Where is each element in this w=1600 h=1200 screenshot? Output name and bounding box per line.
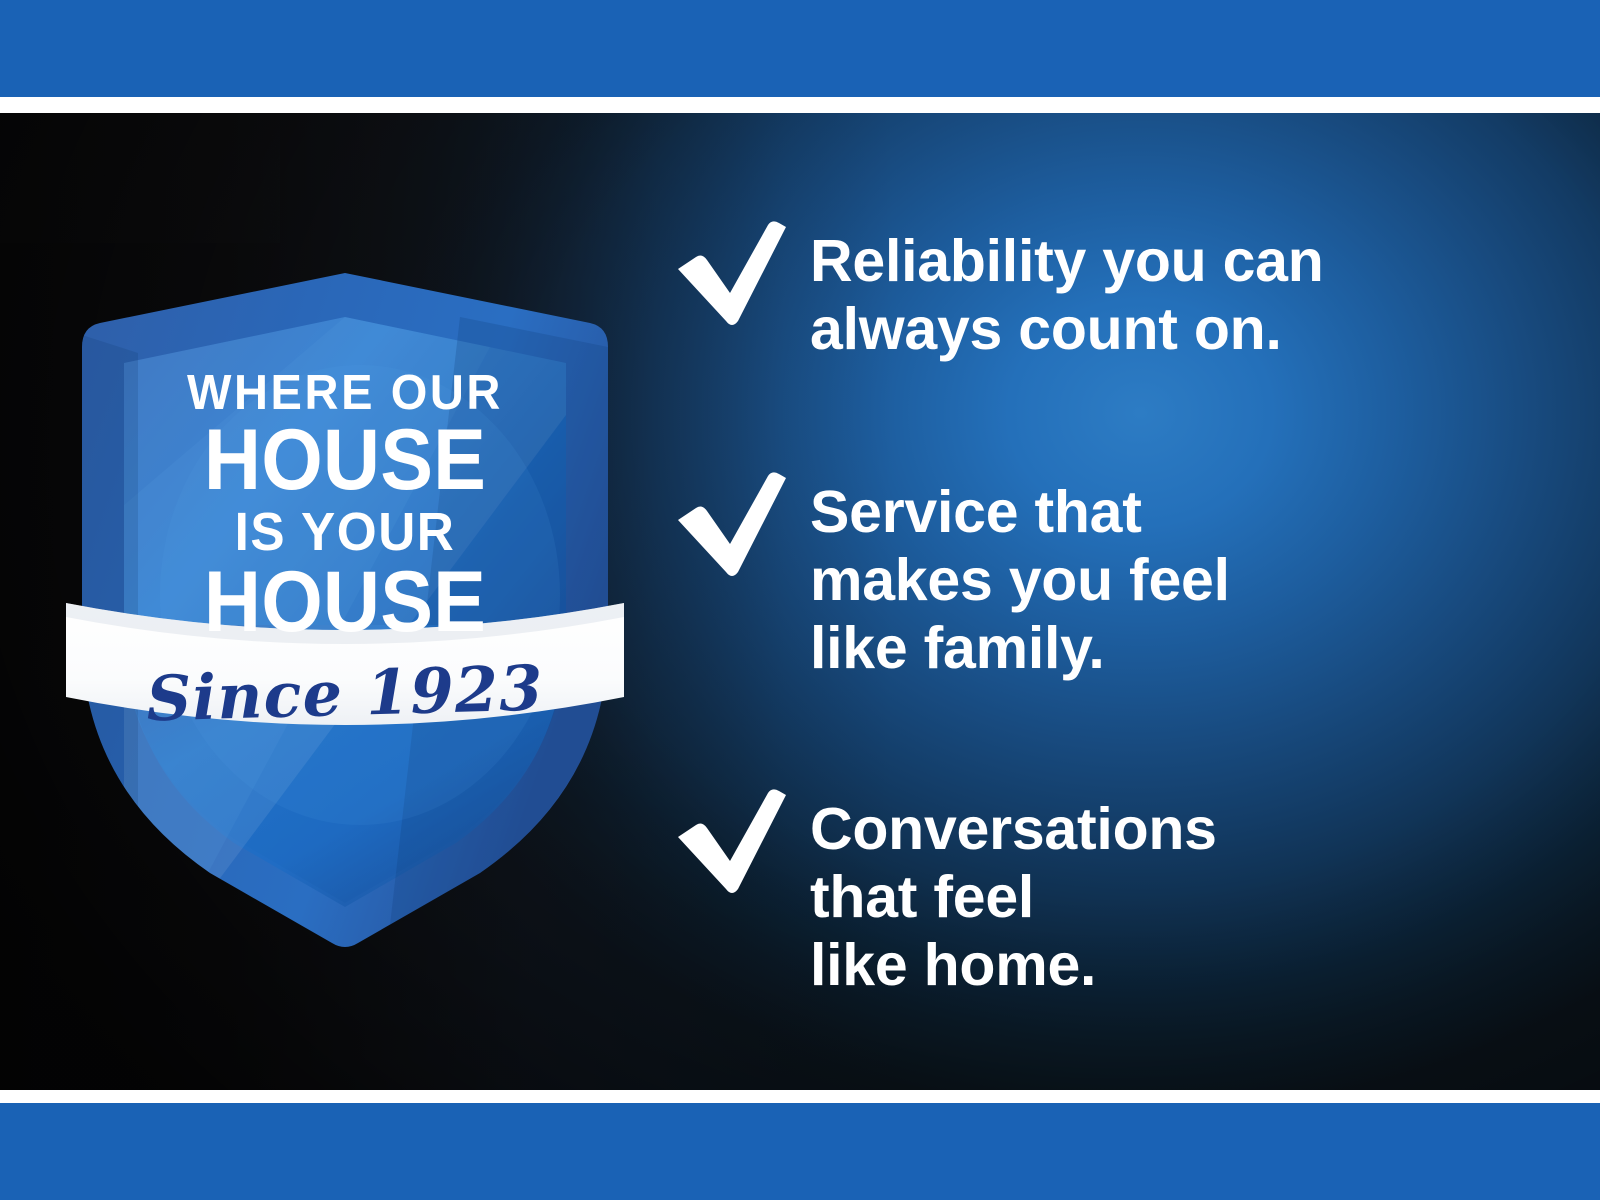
brand-band-top (0, 0, 1600, 97)
checkmark-icon (672, 785, 788, 897)
shield-badge: WHERE OUR HOUSE IS YOUR HOUSE Since 1923 (60, 265, 630, 955)
list-item-label: Reliability you can always count on. (810, 217, 1324, 363)
checkmark-icon (672, 217, 788, 329)
promo-graphic: WHERE OUR HOUSE IS YOUR HOUSE Since 1923… (0, 0, 1600, 1200)
benefits-list: Reliability you can always count on. Ser… (672, 113, 1572, 1090)
panel-noise-texture (0, 113, 280, 243)
badge-tagline-line-2: HOUSE (83, 417, 607, 503)
brand-band-bottom (0, 1103, 1600, 1200)
list-item: Reliability you can always count on. (672, 217, 1324, 363)
badge-tagline-line-4: HOUSE (83, 559, 607, 645)
list-item: Service that makes you feel like family. (672, 468, 1230, 682)
checkmark-icon (672, 468, 788, 580)
list-item: Conversations that feel like home. (672, 785, 1217, 999)
badge-tagline-line-1: WHERE OUR (71, 369, 618, 418)
badge-tagline-line-3: IS YOUR (74, 505, 616, 559)
list-item-label: Service that makes you feel like family. (810, 468, 1230, 682)
list-item-label: Conversations that feel like home. (810, 785, 1217, 999)
